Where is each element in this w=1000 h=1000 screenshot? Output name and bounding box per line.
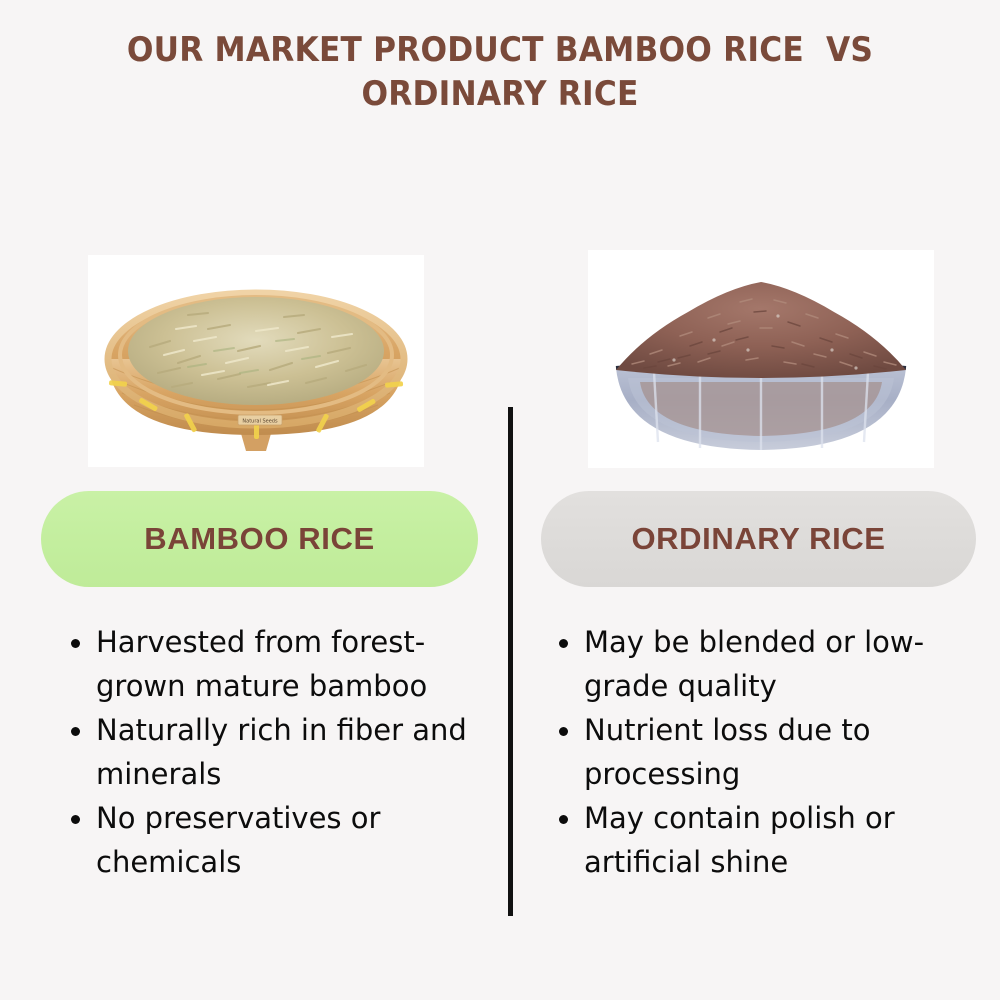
ordinary-rice-drawbacks-list: May be blended or low-grade quality Nutr… (548, 620, 968, 884)
list-item-text: Nutrient loss due to processing (584, 713, 870, 791)
list-item: Harvested from forest-grown mature bambo… (60, 620, 480, 708)
bamboo-rice-illustration: Natural Seeds (88, 255, 424, 467)
list-item-text: No preservatives or chemicals (96, 801, 380, 879)
bamboo-rice-label-text: BAMBOO RICE (144, 521, 375, 557)
ordinary-rice-label-pill: ORDINARY RICE (541, 491, 976, 587)
ordinary-rice-illustration (588, 250, 934, 468)
list-item-text: Naturally rich in fiber and minerals (96, 713, 467, 791)
page-title: OUR MARKET PRODUCT BAMBOO RICE VS ORDINA… (95, 28, 905, 116)
bamboo-rice-basket-photo: Natural Seeds (88, 255, 424, 467)
ordinary-rice-glass-bowl-photo (588, 250, 934, 468)
list-item-text: May contain polish or artificial shine (584, 801, 895, 879)
list-item-text: Harvested from forest-grown mature bambo… (96, 625, 427, 703)
ordinary-rice-label-text: ORDINARY RICE (631, 521, 885, 557)
column-divider (508, 407, 513, 916)
bamboo-rice-benefits-list: Harvested from forest-grown mature bambo… (60, 620, 480, 884)
list-item: Nutrient loss due to processing (548, 708, 968, 796)
bamboo-rice-label-pill: BAMBOO RICE (41, 491, 478, 587)
list-item: Naturally rich in fiber and minerals (60, 708, 480, 796)
list-item: No preservatives or chemicals (60, 796, 480, 884)
comparison-infographic: OUR MARKET PRODUCT BAMBOO RICE VS ORDINA… (0, 0, 1000, 1000)
list-item-text: May be blended or low-grade quality (584, 625, 924, 703)
list-item: May be blended or low-grade quality (548, 620, 968, 708)
svg-text:Natural Seeds: Natural Seeds (242, 419, 278, 425)
list-item: May contain polish or artificial shine (548, 796, 968, 884)
